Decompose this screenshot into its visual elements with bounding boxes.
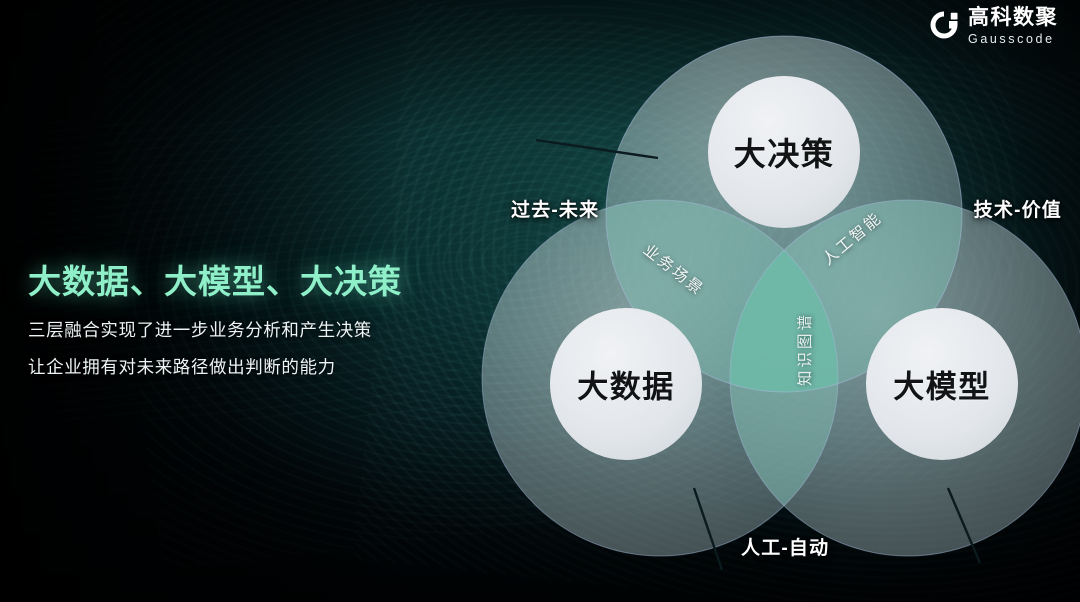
axis-label-tech-value: 技术-价值: [974, 195, 1062, 222]
subtitle-line-1: 三层融合实现了进一步业务分析和产生决策: [28, 317, 458, 342]
venn-core-bigdata: [550, 308, 702, 460]
venn-diagram: 大决策 大数据 大模型 业务场景 人工智能 知识图谱: [508, 18, 1060, 570]
slide-root: 高科数聚 Gausscode 大数据、大模型、大决策 三层融合实现了进一步业务分…: [0, 0, 1080, 602]
venn-core-decision: [708, 76, 860, 228]
venn-core-bigmodel: [866, 308, 1018, 460]
gausscode-g-mark-icon: [929, 10, 959, 40]
brand-name-cn: 高科数聚: [968, 7, 1058, 28]
copy-block: 大数据、大模型、大决策 三层融合实现了进一步业务分析和产生决策 让企业拥有对未来…: [28, 255, 458, 391]
brand-logo-text: 高科数聚 Gausscode: [968, 7, 1058, 46]
axis-label-past-future: 过去-未来: [511, 195, 599, 222]
venn-svg: [508, 18, 1060, 570]
brand-logo: 高科数聚 Gausscode: [929, 7, 1058, 46]
axis-label-manual-automatic: 人工-自动: [741, 533, 829, 560]
subtitle-line-2: 让企业拥有对未来路径做出判断的能力: [28, 354, 458, 379]
brand-name-en: Gausscode: [968, 33, 1058, 46]
page-title: 大数据、大模型、大决策: [28, 255, 458, 303]
